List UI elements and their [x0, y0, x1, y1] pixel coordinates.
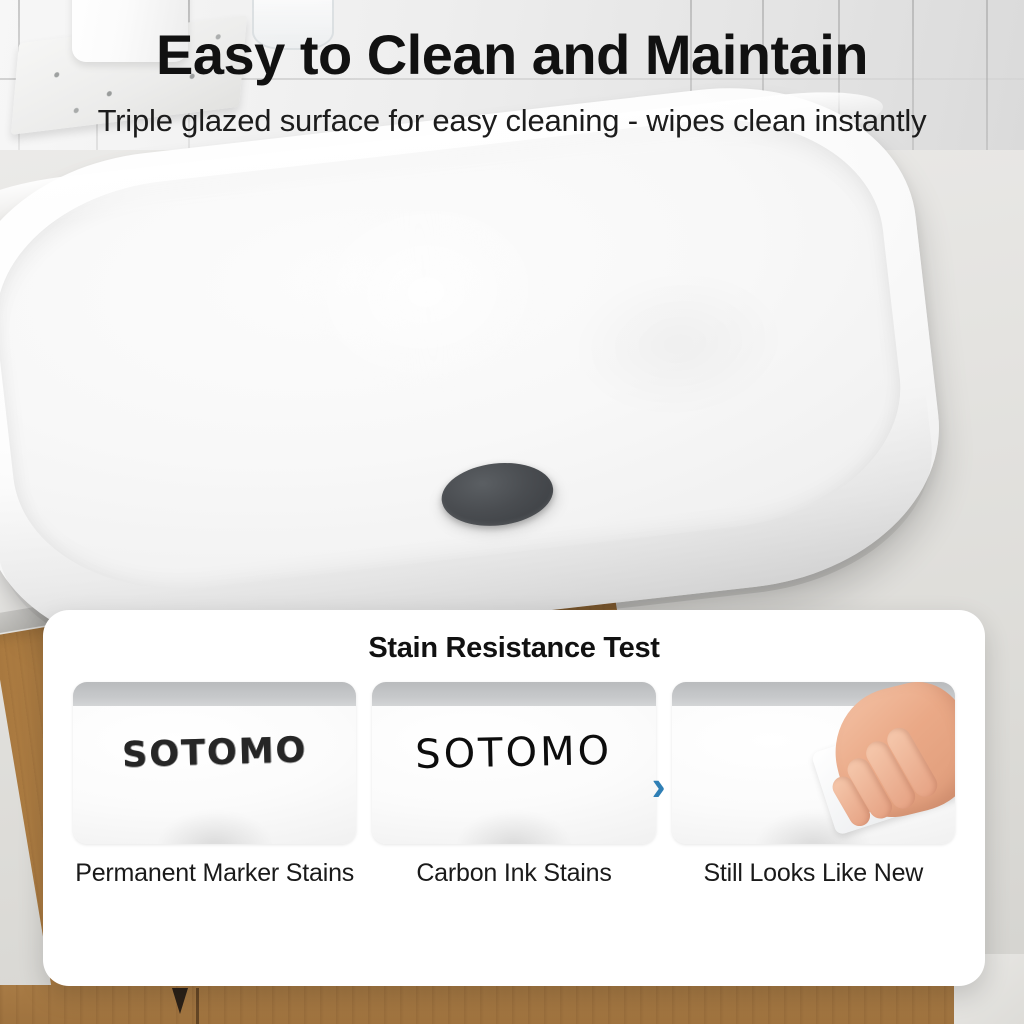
panel-image-wiped-clean	[672, 682, 955, 844]
wood-cabinet-lower	[0, 985, 1024, 1024]
panel-image-permanent-marker: SOTOMO	[73, 682, 356, 844]
test-panel-permanent-marker: SOTOMO Permanent Marker Stains	[73, 682, 356, 888]
stain-resistance-card: Stain Resistance Test SOTOMO Permanent M…	[43, 610, 985, 986]
panel-caption: Permanent Marker Stains	[75, 858, 354, 889]
card-title: Stain Resistance Test	[43, 632, 985, 665]
panel-caption: Carbon Ink Stains	[416, 858, 611, 889]
basin-shadow	[140, 800, 290, 844]
test-panel-row: SOTOMO Permanent Marker Stains SOTOMO Ca…	[73, 682, 955, 888]
cabinet-door-gap	[196, 988, 199, 1024]
test-panel-still-looks-like-new: › Still Looks Like New	[672, 682, 955, 888]
infographic-canvas: Easy to Clean and Maintain Triple glazed…	[0, 0, 1024, 1024]
test-panel-carbon-ink: SOTOMO Carbon Ink Stains	[372, 682, 655, 888]
panel-caption: Still Looks Like New	[703, 858, 923, 889]
page-subtitle: Triple glazed surface for easy cleaning …	[0, 103, 1024, 139]
panel-image-carbon-ink: SOTOMO	[372, 682, 655, 844]
chevron-right-icon: ›	[646, 766, 672, 806]
marker-scrawl-text: SOTOMO	[73, 729, 356, 777]
page-title: Easy to Clean and Maintain	[0, 26, 1024, 85]
ink-scrawl-text: SOTOMO	[372, 727, 655, 779]
basin-shadow	[439, 800, 589, 844]
